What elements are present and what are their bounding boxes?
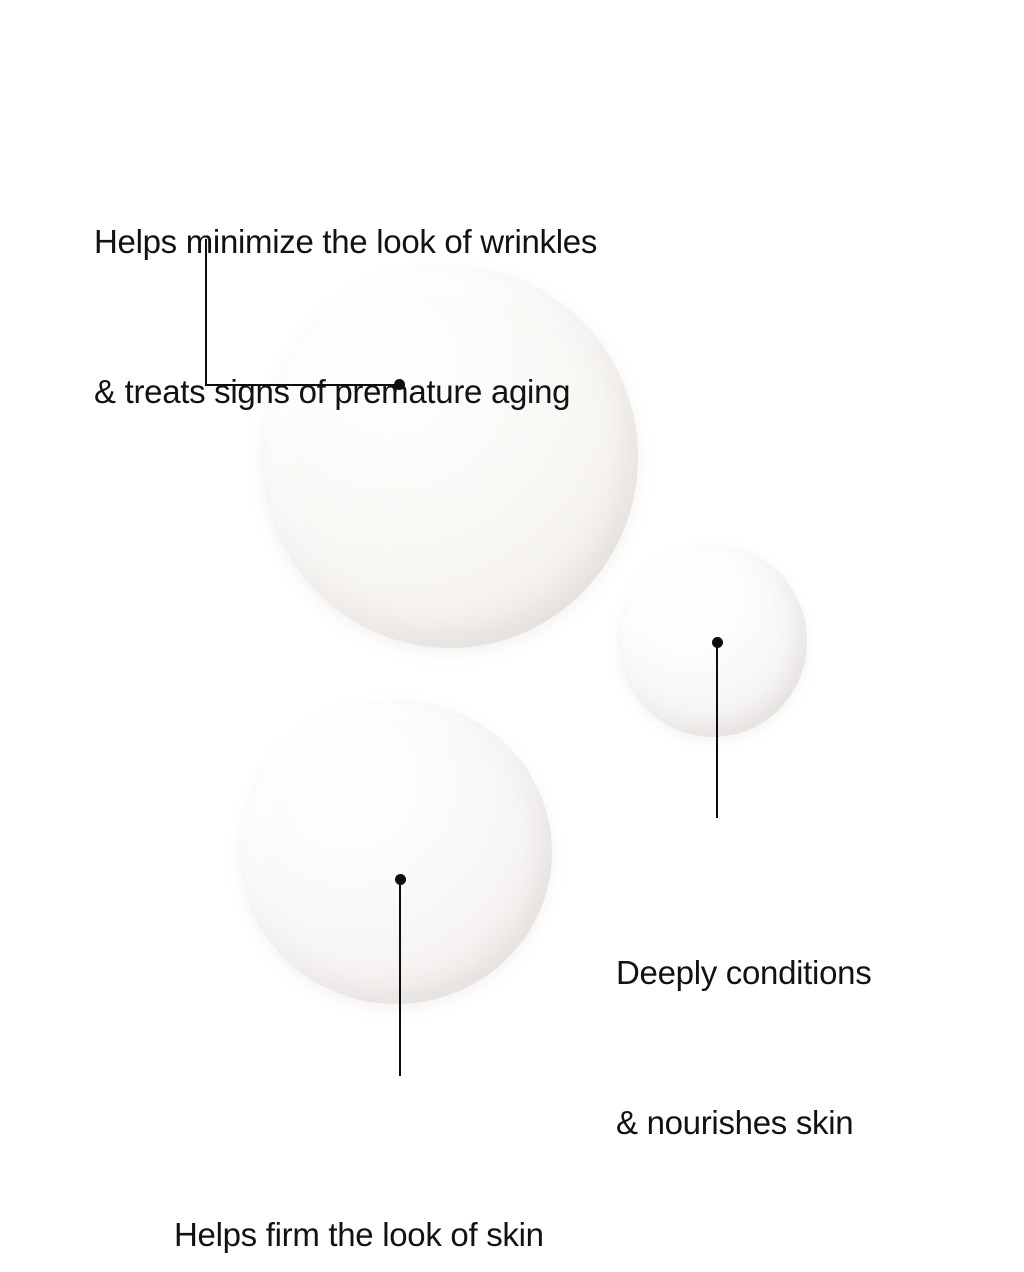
callout-conditions-line-1: Deeply conditions [616,948,871,998]
callout-text-wrinkles: Helps minimize the look of wrinkles & tr… [94,117,597,517]
leader-line-conditions-vertical [716,643,718,818]
callout-wrinkles-line-1: Helps minimize the look of wrinkles [94,217,597,267]
leader-line-firm-vertical [399,880,401,1076]
cream-dollop-medium [240,700,552,1004]
callout-conditions-line-2: & nourishes skin [616,1098,871,1148]
callout-text-conditions: Deeply conditions & nourishes skin [616,848,871,1248]
callout-firm-line-1: Helps firm the look of skin [174,1210,544,1260]
callout-text-firm: Helps firm the look of skin [174,1110,544,1272]
callout-wrinkles-line-2: & treats signs of premature aging [94,367,597,417]
product-benefits-graphic: Helps minimize the look of wrinkles & tr… [0,0,1024,1272]
